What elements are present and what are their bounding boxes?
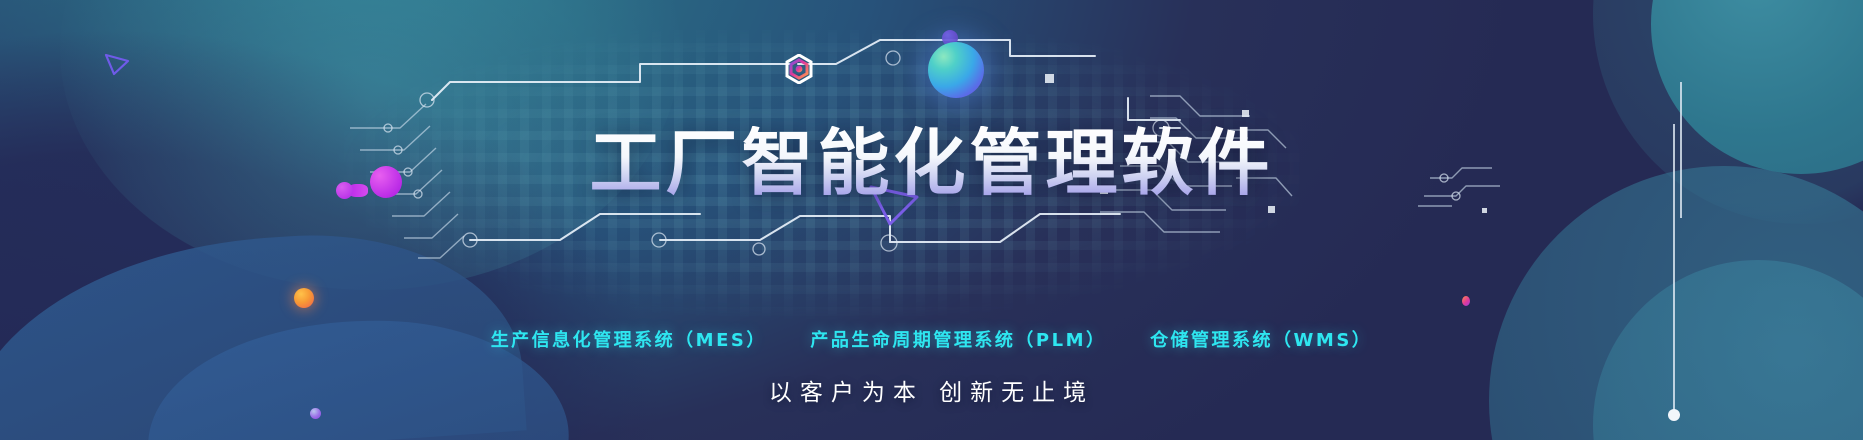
purple-dot xyxy=(310,408,321,419)
triangle-outline-icon xyxy=(104,52,130,76)
hexagon-node-icon xyxy=(784,54,814,84)
subtitle-mes: 生产信息化管理系统（MES） xyxy=(491,326,767,352)
subtitle-plm: 产品生命周期管理系统（PLM） xyxy=(810,326,1106,352)
banner-subtitles: 生产信息化管理系统（MES） 产品生命周期管理系统（PLM） 仓储管理系统（WM… xyxy=(0,326,1863,352)
subtitle-wms: 仓储管理系统（WMS） xyxy=(1150,326,1372,352)
vertical-line-end-dot xyxy=(1668,409,1680,421)
banner-title: 工厂智能化管理软件 xyxy=(0,126,1863,200)
banner-tagline: 以客户为本 创新无止境 xyxy=(0,373,1863,407)
gradient-sphere xyxy=(928,42,984,98)
pink-dot xyxy=(1462,296,1470,306)
hero-banner: 工厂智能化管理软件 生产信息化管理系统（MES） 产品生命周期管理系统（PLM）… xyxy=(0,0,1863,440)
orange-dot xyxy=(294,288,314,308)
